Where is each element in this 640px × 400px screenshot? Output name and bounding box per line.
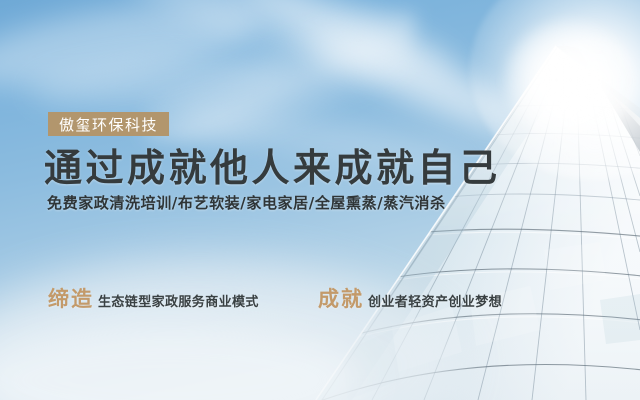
banner-content: 傲玺环保科技 通过成就他人来成就自己 免费家政清洗培训/布艺软装/家电家居/全屋… [0, 0, 640, 400]
tagline-description: 生态链型家政服务商业模式 [98, 291, 259, 310]
promo-banner: 傲玺环保科技 通过成就他人来成就自己 免费家政清洗培训/布艺软装/家电家居/全屋… [0, 0, 640, 400]
tagline-keyword: 成就 [318, 283, 364, 313]
tagline-item: 缔造 生态链型家政服务商业模式 [48, 283, 259, 313]
headline-text: 通过成就他人来成就自己 [44, 146, 501, 190]
tagline-keyword: 缔造 [48, 283, 94, 313]
brand-badge: 傲玺环保科技 [48, 112, 169, 136]
tagline-item: 成就 创业者轻资产创业梦想 [318, 283, 502, 313]
tagline-row: 缔造 生态链型家政服务商业模式 成就 创业者轻资产创业梦想 [0, 283, 640, 311]
subheadline-text: 免费家政清洗培训/布艺软装/家电家居/全屋熏蒸/蒸汽消杀 [47, 193, 446, 213]
tagline-description: 创业者轻资产创业梦想 [368, 291, 502, 310]
